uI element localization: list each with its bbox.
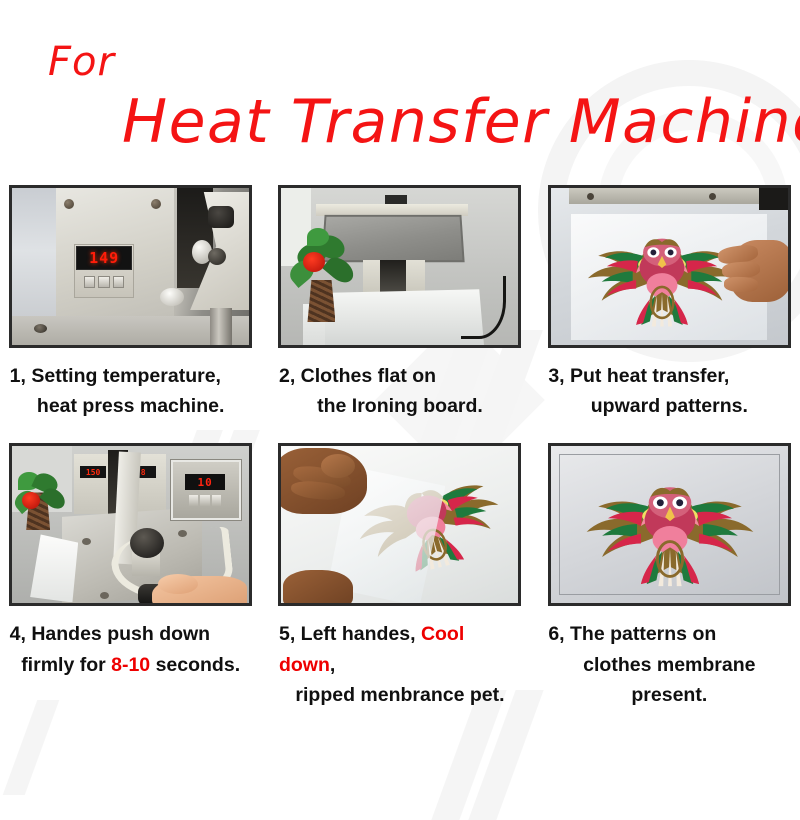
heat-platen bbox=[322, 215, 465, 262]
temperature-value: 149 bbox=[89, 249, 119, 267]
title-prefix: For bbox=[48, 42, 115, 82]
step-2: 2, Clothes flat on the Ironing board. bbox=[269, 185, 530, 421]
step-4-line-2-pre: firmly for bbox=[21, 654, 111, 676]
timer-buttons bbox=[189, 495, 221, 506]
page-title: Heat Transfer Machine bbox=[122, 92, 800, 152]
press-column-shadow bbox=[380, 260, 406, 292]
screw-icon bbox=[709, 193, 716, 200]
step-5-line-1: 5, Left handes, Cool down, bbox=[275, 619, 525, 679]
owl-pattern-icon bbox=[570, 464, 770, 590]
step-4-caption: 4, Handes push down firmly for 8-10 seco… bbox=[6, 619, 256, 679]
timer-value: 10 bbox=[198, 476, 213, 489]
temperature-display: 149 bbox=[76, 246, 132, 270]
step-1-line-2: heat press machine. bbox=[6, 391, 256, 421]
step-4-line-2: firmly for 8-10 seconds. bbox=[6, 650, 256, 680]
step-2-line-2: the Ironing board. bbox=[275, 391, 525, 421]
step-1-caption: 1, Setting temperature, heat press machi… bbox=[6, 361, 256, 421]
timer-display: 10 bbox=[185, 474, 225, 490]
step-2-line-1: 2, Clothes flat on bbox=[275, 361, 525, 391]
step-6-caption: 6, The patterns on clothes membrane pres… bbox=[544, 619, 794, 710]
temperature-gauge-a: 150 bbox=[80, 466, 106, 478]
step-4-duration-highlight: 8-10 bbox=[111, 654, 150, 676]
step-1-photo: 149 bbox=[9, 185, 252, 348]
step-6-line-1: 6, The patterns on bbox=[544, 619, 794, 649]
step-1: 149 1, Setting temperature, heat press m… bbox=[0, 185, 261, 421]
step-3-photo bbox=[548, 185, 791, 348]
step-2-photo bbox=[278, 185, 521, 348]
step-4-line-1: 4, Handes push down bbox=[6, 619, 256, 649]
support-post bbox=[210, 308, 232, 348]
step-5: 5, Left handes, Cool down, ripped menbra… bbox=[269, 443, 530, 710]
step-5-photo bbox=[278, 443, 521, 606]
step-5-line-1-pre: 5, Left handes, bbox=[279, 623, 421, 645]
flower-pot-icon bbox=[307, 280, 335, 322]
step-3-line-1: 3, Put heat transfer, bbox=[544, 361, 794, 391]
leaf-icon bbox=[307, 228, 329, 246]
timer-inset-zoom: 10 bbox=[171, 460, 241, 520]
white-cloth-on-board bbox=[309, 288, 484, 348]
finger-icon bbox=[724, 276, 759, 292]
step-6: 6, The patterns on clothes membrane pres… bbox=[539, 443, 800, 710]
screw-icon bbox=[587, 193, 594, 200]
step-4-photo: 150 8 10 bbox=[9, 443, 252, 606]
black-knob-icon bbox=[208, 206, 234, 228]
page-title-block: For Heat Transfer Machine bbox=[0, 0, 800, 180]
gauge-a-value: 150 bbox=[86, 468, 100, 477]
step-6-line-2: clothes membrane present. bbox=[544, 650, 794, 710]
machine-edge-bar bbox=[569, 188, 759, 204]
step-3: 3, Put heat transfer, upward patterns. bbox=[539, 185, 800, 421]
step-5-caption: 5, Left handes, Cool down, ripped menbra… bbox=[275, 619, 525, 710]
step-3-caption: 3, Put heat transfer, upward patterns. bbox=[544, 361, 794, 421]
lower-knob-icon bbox=[160, 288, 184, 306]
machine-shadow-corner bbox=[759, 188, 791, 210]
step-2-caption: 2, Clothes flat on the Ironing board. bbox=[275, 361, 525, 421]
step-5-line-1-post: , bbox=[330, 654, 335, 676]
step-3-line-2: upward patterns. bbox=[544, 391, 794, 421]
instruction-steps-grid: 149 1, Setting temperature, heat press m… bbox=[0, 185, 800, 710]
step-6-photo bbox=[548, 443, 791, 606]
step-1-line-1: 1, Setting temperature, bbox=[6, 361, 256, 391]
second-hand-icon bbox=[283, 570, 353, 606]
step-5-line-2: ripped menbrance pet. bbox=[275, 680, 525, 710]
watermark-chevron-icon bbox=[3, 700, 60, 795]
step-4-line-2-post: seconds. bbox=[150, 654, 240, 676]
controller-buttons bbox=[84, 276, 124, 288]
gauge-b-value: 8 bbox=[141, 468, 146, 477]
step-4: 150 8 10 bbox=[0, 443, 261, 710]
